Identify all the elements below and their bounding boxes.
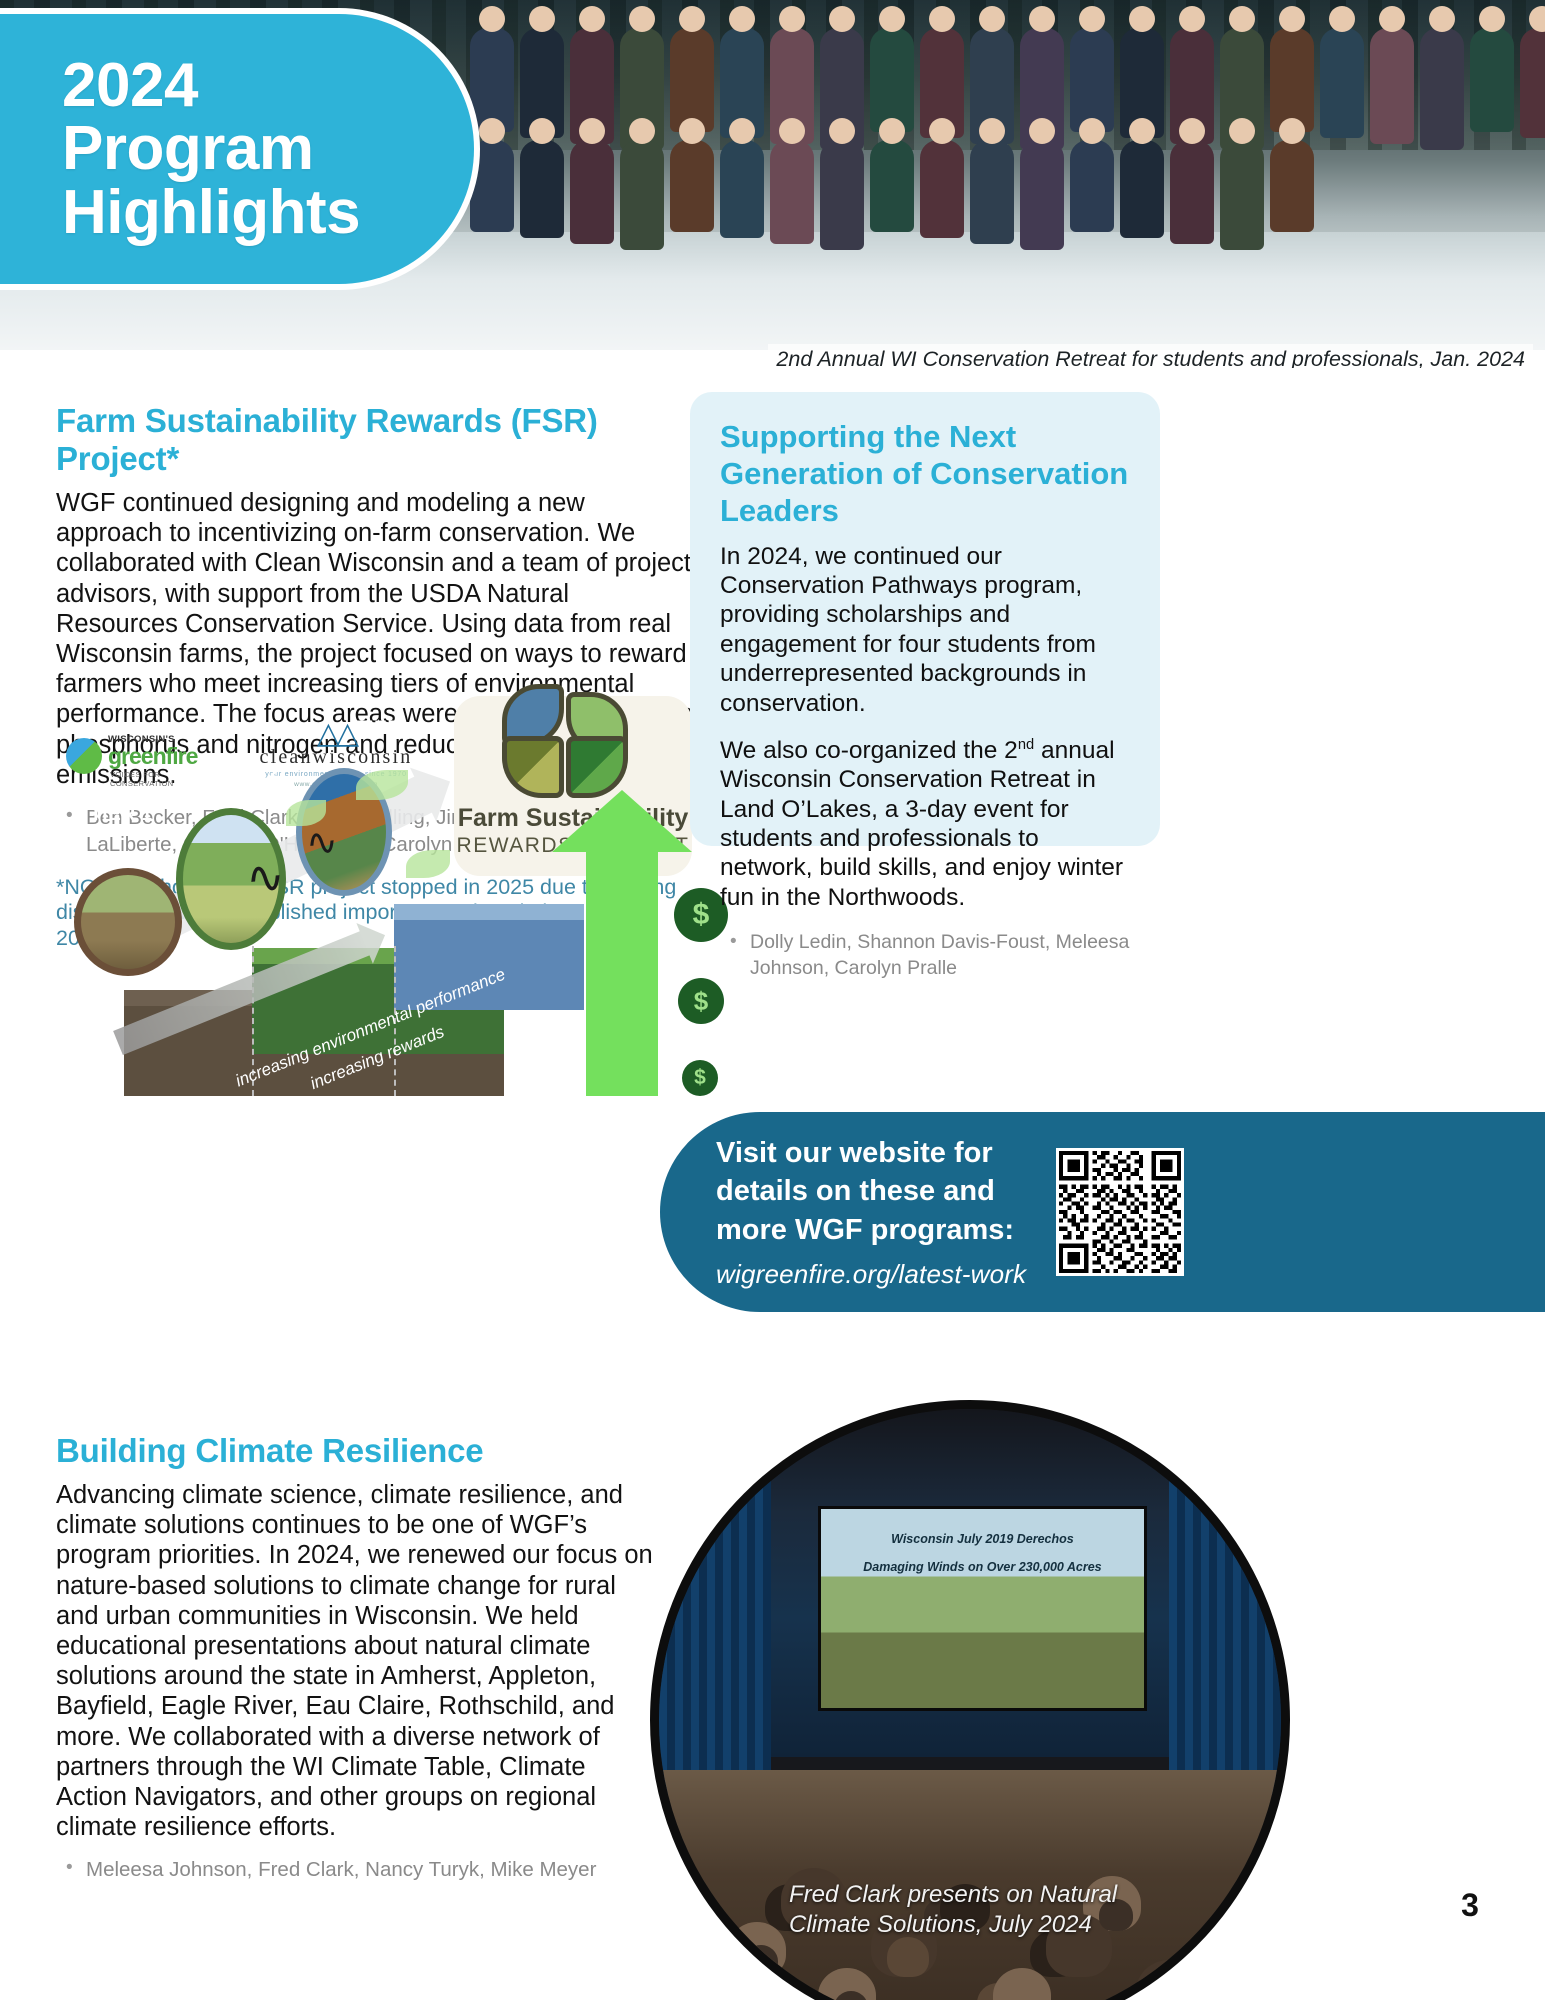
person-silhouette [1270,28,1314,132]
coin-icon-small: $ [682,1060,718,1096]
ordinal-suffix: nd [1018,737,1034,753]
audience-head [1258,1876,1290,1931]
squiggle-icon-2: ∿ [304,818,340,866]
fsr-heading: Farm Sustainability Rewards (FSR) Projec… [56,402,696,478]
person-silhouette [470,28,514,132]
people-row-front [470,140,1314,250]
tier1-label: TIER 1 [90,804,153,826]
person-silhouette [670,28,714,132]
person-silhouette [920,140,964,238]
person-silhouette [1120,140,1164,238]
four-leaf-icon [502,684,642,796]
list-item: Meleesa Johnson, Fred Clark, Nancy Turyk… [56,1856,656,1883]
person-silhouette [520,140,564,238]
person-silhouette [720,140,764,238]
person-silhouette [1320,28,1364,138]
slide-title-line1: Wisconsin July 2019 Derechos [821,1532,1144,1546]
climate-section: Building Climate Resilience Advancing cl… [56,1432,656,1884]
list-item: Dolly Ledin, Shannon Davis-Foust, Melees… [720,930,1130,982]
page-header: 2024 Program Highlights 2nd Annual WI Co… [0,0,1545,368]
person-silhouette [570,140,614,244]
next-generation-para2: We also co-organized the 2nd annual Wisc… [720,736,1130,912]
greenfire-logo-line2: greenfire [108,743,197,770]
header-photo-caption: 2nd Annual WI Conservation Retreat for s… [768,344,1533,368]
qr-code[interactable] [1056,1148,1184,1276]
leaf-sprig-3 [406,850,450,878]
audience-head [1205,1930,1255,1978]
person-silhouette [970,140,1014,244]
next-generation-para1: In 2024, we continued our Conservation P… [720,542,1130,718]
person-silhouette [1070,140,1114,232]
climate-presentation-photo: Wisconsin July 2019 Derechos Damaging Wi… [650,1400,1290,2000]
audience-head [744,1945,778,1977]
person-silhouette [870,140,914,232]
title-badge: 2024 Program Highlights [0,8,480,290]
curtain-left [659,1409,771,1795]
page-title: 2024 Program Highlights [0,54,360,244]
big-green-arrow-icon [586,850,658,1096]
next-generation-heading: Supporting the Next Generation of Conser… [720,418,1130,530]
person-silhouette [1220,140,1264,250]
person-silhouette [1420,28,1464,150]
tier2-label: TIER 2 [218,762,281,784]
page-number: 3 [1433,1868,1507,1942]
qr-banner-url[interactable]: wigreenfire.org/latest-work [716,1259,1026,1290]
person-silhouette [770,140,814,244]
person-silhouette [670,140,714,232]
qr-banner-headline: Visit our website for details on these a… [716,1134,1026,1250]
fsr-diagram: WISCONSIN'S greenfire VOICES FOR CONSERV… [56,700,716,1100]
page-root: 2024 Program Highlights 2nd Annual WI Co… [0,0,1545,2000]
greenfire-logo-line3: VOICES FOR CONSERVATION [110,770,196,788]
tier3-label: TIER 3 [356,718,419,740]
website-qr-banner[interactable]: Visit our website for details on these a… [660,1112,1545,1312]
para2-pre: We also co-organized the 2 [720,737,1018,764]
slide-title-line2: Damaging Winds on Over 230,000 Acres [821,1560,1144,1574]
person-silhouette [620,140,664,250]
qr-code-icon [1059,1151,1181,1273]
climate-body: Advancing climate science, climate resil… [56,1480,656,1842]
climate-heading: Building Climate Resilience [56,1432,656,1470]
person-silhouette [1470,28,1514,132]
person-silhouette [1170,140,1214,244]
person-silhouette [1070,28,1114,132]
person-silhouette [870,28,914,132]
person-silhouette [1520,28,1545,138]
next-generation-box: Supporting the Next Generation of Conser… [690,392,1160,846]
photo-caption: Fred Clark presents on Natural Climate S… [789,1880,1119,1939]
qr-banner-text: Visit our website for details on these a… [716,1134,1026,1291]
leaf-field-icon [502,736,564,798]
squiggle-icon-1: ∿ [243,848,287,906]
climate-credits-list: Meleesa Johnson, Fred Clark, Nancy Turyk… [56,1856,656,1883]
audience-head [887,1937,929,1977]
presentation-screen: Wisconsin July 2019 Derechos Damaging Wi… [821,1509,1144,1708]
greenfire-mark-icon [66,738,102,774]
next-generation-credits-list: Dolly Ledin, Shannon Davis-Foust, Melees… [720,930,1130,982]
curtain-right [1169,1409,1281,1795]
coin-icon-medium: $ [678,978,724,1024]
person-silhouette [820,140,864,250]
tier3-block-top [394,904,584,920]
person-silhouette [1020,140,1064,250]
leaf-crop-icon [566,736,628,798]
person-silhouette [1270,140,1314,232]
person-silhouette [1370,28,1414,144]
